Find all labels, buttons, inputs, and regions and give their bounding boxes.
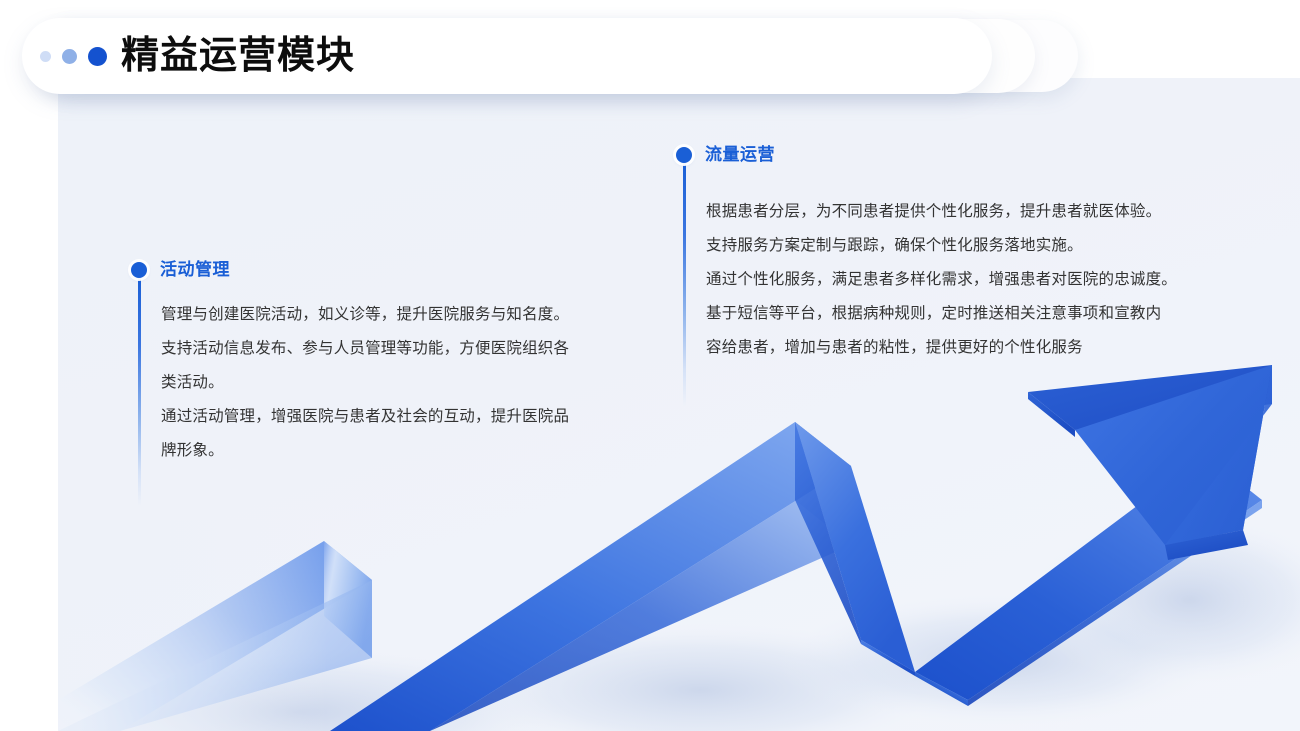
header-dots (40, 44, 107, 68)
block-title: 活动管理 (160, 258, 230, 282)
marker-dot-icon (131, 262, 147, 278)
dot-medium-icon (62, 49, 77, 64)
body-line: 管理与创建医院活动，如义诊等，提升医院服务与知名度。 (161, 298, 691, 332)
body-line: 容给患者，增加与患者的粘性，提供更好的个性化服务 (706, 331, 1262, 365)
body-line: 基于短信等平台，根据病种规则，定时推送相关注意事项和宣教内 (706, 297, 1262, 331)
body-line: 根据患者分层，为不同患者提供个性化服务，提升患者就医体验。 (706, 195, 1262, 229)
block-body: 根据患者分层，为不同患者提供个性化服务，提升患者就医体验。 支持服务方案定制与跟… (706, 195, 1262, 365)
page-title: 精益运营模块 (121, 32, 355, 80)
body-line: 通过活动管理，增强医院与患者及社会的互动，提升医院品 (161, 400, 691, 434)
dot-small-icon (40, 51, 51, 62)
body-line: 通过个性化服务，满足患者多样化需求，增强患者对医院的忠诚度。 (706, 263, 1262, 297)
block-body: 管理与创建医院活动，如义诊等，提升医院服务与知名度。 支持活动信息发布、参与人员… (161, 298, 691, 468)
marker-dot-icon (676, 147, 692, 163)
body-line: 牌形象。 (161, 434, 691, 468)
dot-large-icon (88, 47, 107, 66)
connector-line (683, 161, 686, 406)
body-line: 类活动。 (161, 366, 691, 400)
connector-line (138, 276, 141, 506)
body-line: 支持服务方案定制与跟踪，确保个性化服务落地实施。 (706, 229, 1262, 263)
block-title: 流量运营 (705, 143, 775, 167)
body-line: 支持活动信息发布、参与人员管理等功能，方便医院组织各 (161, 332, 691, 366)
slide-root: 精益运营模块 活动管理 管理与创建医院活动，如义诊等，提升医院服务与知名度。 支… (0, 0, 1300, 731)
